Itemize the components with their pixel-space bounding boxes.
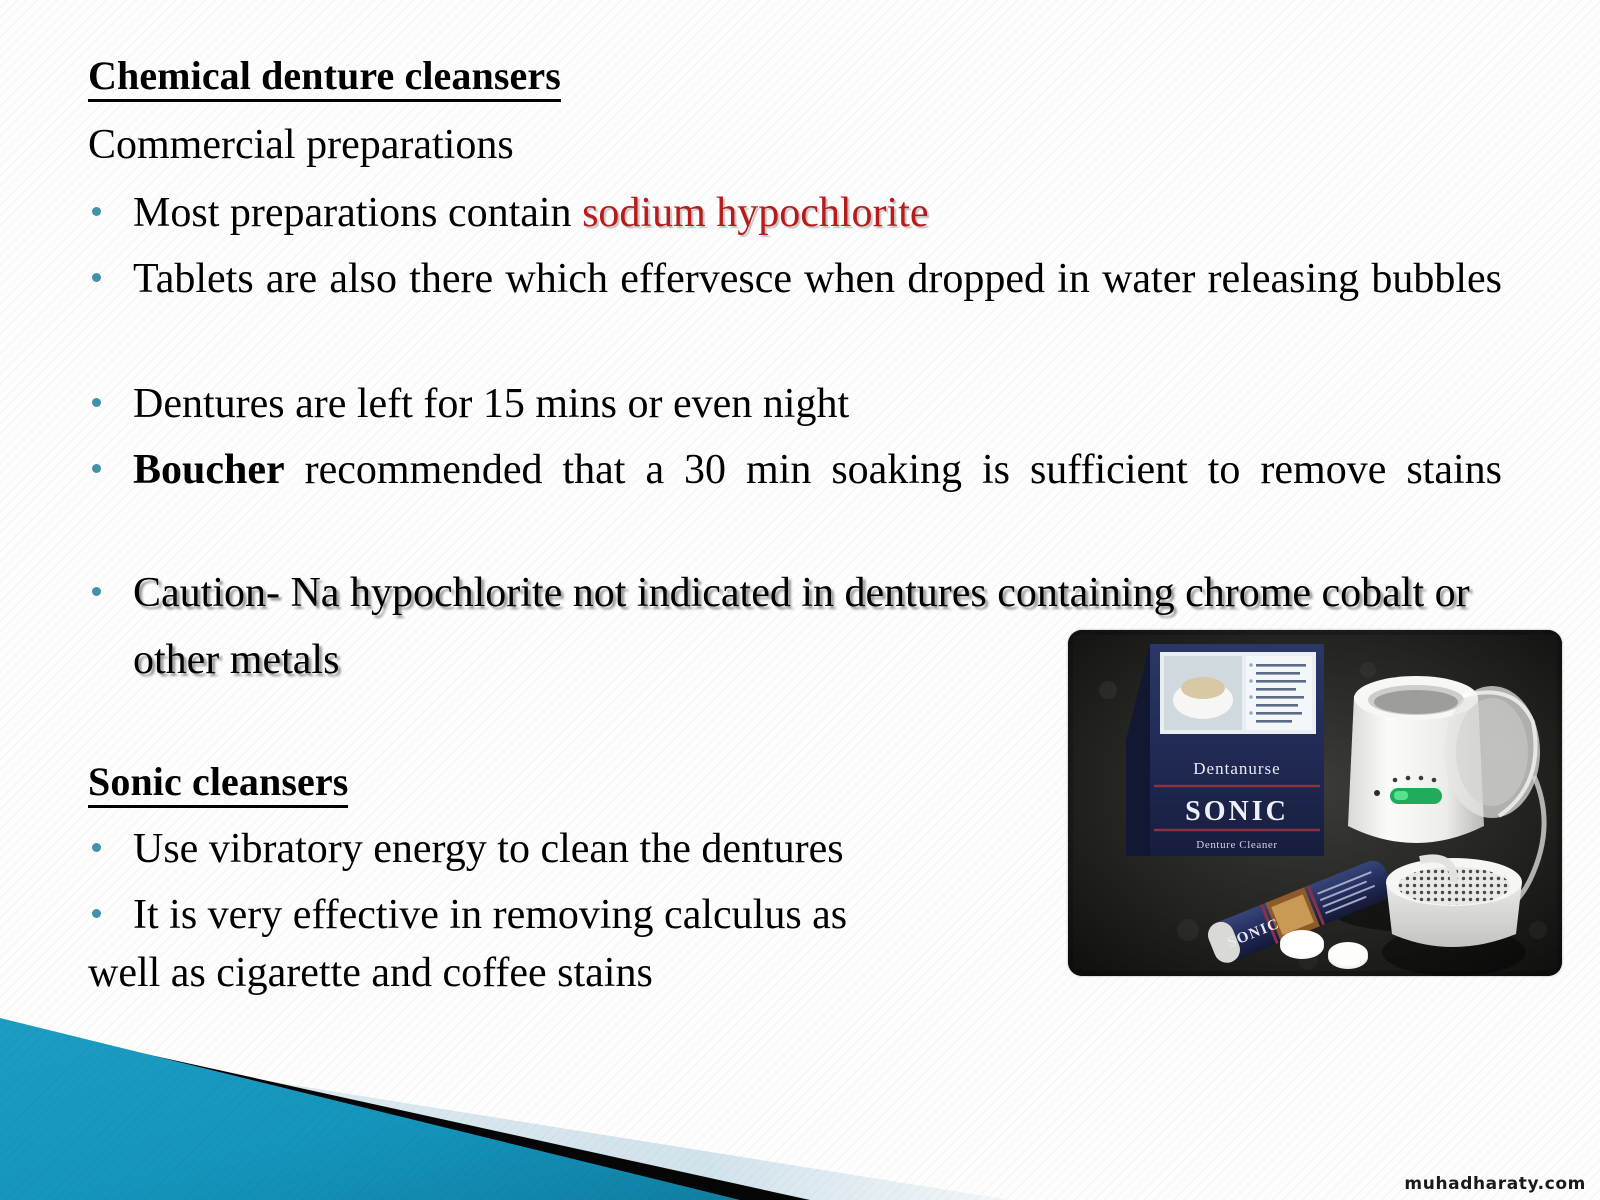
list-item-text: Tablets are also there which effervesce …: [133, 246, 1502, 380]
intro-line: Commercial preparations: [88, 122, 514, 168]
list-item: Boucher recommended that a 30 min soakin…: [88, 437, 1502, 571]
bullet-1-pre: Most preparations contain: [133, 190, 582, 236]
list-item-text: It is very effective in removing calculu…: [133, 883, 978, 947]
sodium-hypochlorite-highlight: sodium hypochlorite: [582, 190, 928, 236]
list-item-text: Use vibratory energy to clean the dentur…: [133, 817, 978, 881]
slide-canvas: Chemical denture cleansers Commercial pr…: [0, 0, 1600, 1200]
list-item: Dentures are left for 15 mins or even ni…: [88, 371, 968, 438]
list-item: Most preparations contain sodium hypochl…: [88, 180, 968, 247]
section-title-sonic: Sonic cleansers: [88, 760, 348, 804]
trailing-line: well as cigarette and coffee stains: [88, 950, 653, 996]
bullet-dot-icon: [92, 398, 101, 407]
photo-graphic: Dentanurse SONIC Denture Cleaner: [1068, 630, 1562, 976]
product-box: Dentanurse SONIC Denture Cleaner: [1126, 644, 1324, 856]
list-item-text: Boucher recommended that a 30 min soakin…: [133, 437, 1502, 571]
list-item: Use vibratory energy to clean the dentur…: [88, 817, 978, 881]
list-item: Tablets are also there which effervesce …: [88, 246, 1502, 380]
section-title-sonic-text: Sonic cleansers: [88, 759, 348, 808]
denture-basket: [1382, 858, 1526, 976]
page-title-text: Chemical denture cleansers: [88, 53, 561, 102]
bullet-dot-icon: [92, 587, 101, 596]
page-title: Chemical denture cleansers: [88, 54, 561, 98]
bullet-dot-icon: [92, 207, 101, 216]
boucher-rest: recommended that a 30 min soaking is suf…: [285, 447, 1502, 493]
bullet-dot-icon: [92, 464, 101, 473]
list-item: It is very effective in removing calculu…: [88, 883, 978, 947]
svg-text:Denture Cleaner: Denture Cleaner: [1196, 839, 1277, 851]
corner-decoration-shapes: [0, 1000, 1010, 1200]
svg-text:SONIC: SONIC: [1185, 796, 1289, 827]
list-item-text: Most preparations contain sodium hypochl…: [133, 180, 968, 247]
corner-decoration: [0, 1000, 1010, 1200]
bullet-dot-icon: [92, 273, 101, 282]
bullet-dot-icon: [92, 843, 101, 852]
list-item-text: Dentures are left for 15 mins or even ni…: [133, 371, 968, 438]
boucher-emphasis: Boucher: [133, 447, 285, 493]
bullet-dot-icon: [92, 909, 101, 918]
cleaner-lid: [1444, 686, 1540, 818]
dentanurse-sonic-denture-cleaner-photo: Dentanurse SONIC Denture Cleaner: [1068, 630, 1562, 976]
watermark: muhadharaty.com: [1404, 1174, 1586, 1194]
svg-text:Dentanurse: Dentanurse: [1193, 759, 1280, 778]
